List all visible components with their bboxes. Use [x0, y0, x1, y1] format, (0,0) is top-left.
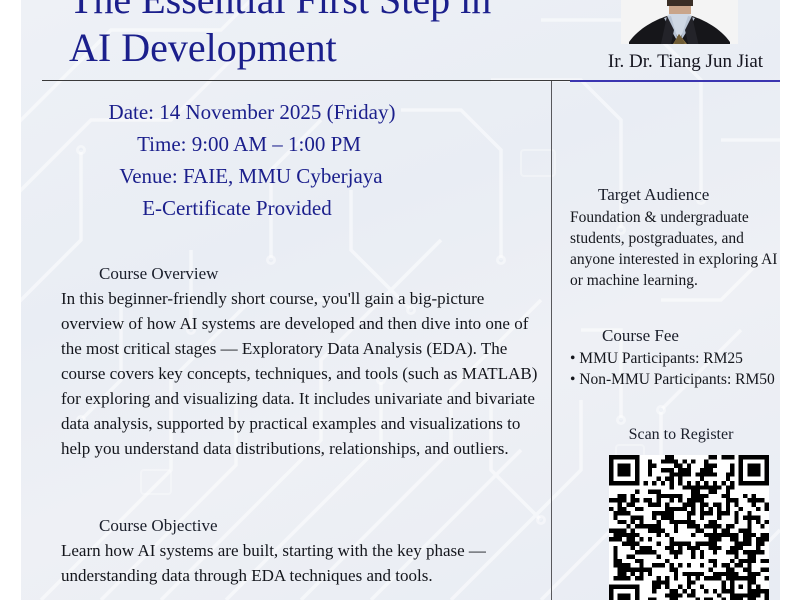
header-divider-left [42, 80, 570, 81]
course-overview-section: Course Overview In this beginner-friendl… [61, 262, 545, 461]
qr-code-icon[interactable] [609, 455, 769, 600]
course-fee-section: Course Fee • MMU Participants: RM25 • No… [570, 324, 780, 390]
qr-code-canvas[interactable] [609, 455, 769, 600]
target-audience-section: Target Audience Foundation & undergradua… [570, 183, 780, 291]
course-overview-heading: Course Overview [61, 262, 545, 286]
course-objective-heading: Course Objective [61, 514, 545, 538]
event-time: Time: 9:00 AM – 1:00 PM [67, 128, 537, 160]
course-objective-body: Learn how AI systems are built, starting… [61, 538, 545, 588]
column-divider [551, 81, 552, 600]
course-fee-heading: Course Fee [570, 324, 780, 348]
poster-root: The Essential First Step in AI Developme… [0, 0, 800, 600]
event-date: Date: 14 November 2025 (Friday) [67, 96, 537, 128]
course-objective-section: Course Objective Learn how AI systems ar… [61, 514, 545, 588]
speaker-name: Ir. Dr. Tiang Jun Jiat [570, 50, 780, 74]
speaker-portrait-icon [621, 0, 738, 44]
target-audience-body: Foundation & undergraduate students, pos… [570, 207, 780, 291]
target-audience-heading: Target Audience [570, 183, 780, 207]
scan-to-register-label: Scan to Register [570, 424, 780, 446]
course-fee-item-mmu: • MMU Participants: RM25 [570, 348, 780, 369]
register-section: Scan to Register [570, 424, 780, 446]
course-overview-body: In this beginner-friendly short course, … [61, 286, 545, 461]
header-divider-right [570, 80, 780, 82]
event-certificate: E-Certificate Provided [67, 192, 537, 224]
page-title: The Essential First Step in AI Developme… [69, 0, 539, 72]
course-fee-item-non-mmu: • Non-MMU Participants: RM50 [570, 369, 780, 390]
poster-page-area: The Essential First Step in AI Developme… [21, 0, 780, 600]
speaker-portrait-image [621, 0, 738, 44]
event-details: Date: 14 November 2025 (Friday) Time: 9:… [67, 96, 537, 224]
event-venue: Venue: FAIE, MMU Cyberjaya [67, 160, 537, 192]
